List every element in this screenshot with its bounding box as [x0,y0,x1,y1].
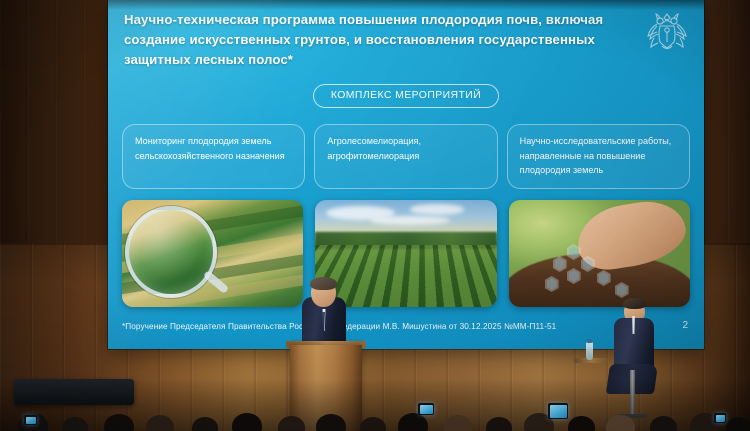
audience-head [192,417,218,431]
screen-top-shadow [108,0,704,10]
presentation-screen: Научно-техническая программа повышения п… [108,0,704,349]
speaker-hair [310,277,337,290]
audience-front-rows [0,379,750,431]
audience-head [146,415,174,431]
audience-head [316,414,346,431]
audience-head [104,414,134,431]
audience-head [360,417,386,431]
audience-head [444,415,472,431]
slide-page-number: 2 [682,320,688,331]
audience-head [398,413,428,431]
audience-tablet-recording [548,403,568,419]
complex-of-measures-badge: КОМПЛЕКС МЕРОПРИЯТИЙ [313,84,499,108]
photo-hand-over-soil [509,200,690,307]
photo-row [122,200,690,307]
photo-crop-rows [315,200,496,307]
russian-eagle-emblem-icon [644,8,690,58]
audience-phone-recording [24,415,37,425]
audience-phone-recording [714,413,726,423]
moderator-hair [623,298,646,309]
audience-head [232,413,262,431]
measure-cards: Мониторинг плодородия земель сельскохозя… [122,124,690,189]
measure-card-monitoring: Мониторинг плодородия земель сельскохозя… [122,124,305,189]
av-console [14,379,134,405]
measure-card-agroforestry: Агролесомелиорация, агрофитомелиорация [314,124,497,189]
audience-head [568,416,595,431]
water-bottle [586,342,593,360]
water-bottle-cap [587,339,592,343]
measure-card-research: Научно-исследовательские работы, направл… [507,124,690,189]
photo-aerial-farmland [122,200,303,307]
crop-rows [315,245,496,307]
conference-hall-photo: Научно-техническая программа повышения п… [0,0,750,431]
audience-head [726,417,750,431]
slide-title: Научно-техническая программа повышения п… [124,10,604,70]
audience-head [486,417,512,431]
magnifying-glass-icon [125,206,217,298]
audience-head [62,417,88,431]
audience-phone-recording [418,403,434,415]
badge-row: КОМПЛЕКС МЕРОПРИЯТИЙ [108,84,704,108]
audience-head [606,415,635,431]
audience-head [278,416,305,431]
audience-head [650,416,677,431]
